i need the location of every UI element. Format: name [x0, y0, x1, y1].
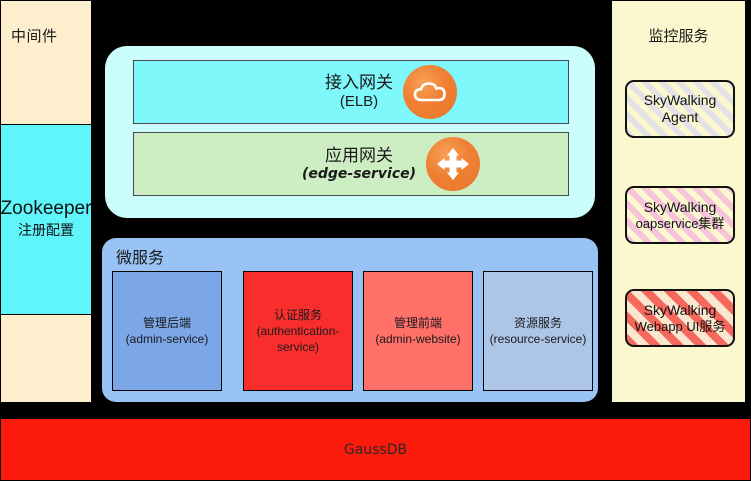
access-gateway-subtitle: (ELB)	[325, 93, 393, 112]
skywalking-oapservice-box[interactable]: SkyWalking oapservice集群	[625, 186, 735, 244]
skywalking-oapservice-line1: SkyWalking	[644, 199, 717, 216]
application-gateway-title: 应用网关	[302, 145, 416, 166]
microservice-resource-service[interactable]: 资源服务 (resource-service)	[483, 271, 593, 391]
move-arrows-icon	[426, 137, 480, 191]
microservice-authentication-service[interactable]: 认证服务 (authentication-service)	[243, 271, 353, 391]
microservice-admin-website[interactable]: 管理前端 (admin-website)	[363, 271, 473, 391]
zookeeper-subtitle: 注册配置	[18, 220, 74, 240]
microservice-name: 认证服务	[248, 307, 348, 323]
access-gateway-box[interactable]: 接入网关 (ELB)	[133, 60, 569, 124]
middleware-top-block: 中间件	[0, 0, 92, 125]
skywalking-agent-line1: SkyWalking	[644, 92, 717, 109]
microservice-id: (authentication-service)	[248, 323, 348, 355]
middleware-section-label: 中间件	[11, 25, 58, 46]
monitoring-title: 监控服务	[612, 25, 745, 46]
microservice-id: (resource-service)	[490, 331, 587, 347]
skywalking-webapp-ui-box[interactable]: SkyWalking Webapp UI服务	[625, 289, 735, 347]
skywalking-oapservice-line2: oapservice集群	[636, 216, 725, 232]
access-gateway-title: 接入网关	[325, 72, 393, 93]
microservices-group: 微服务 管理后端 (admin-service) 认证服务 (authentic…	[102, 238, 598, 402]
middleware-bottom-block	[0, 314, 92, 403]
architecture-diagram: 中间件 Zookeeper 注册配置 接入网关 (ELB)	[0, 0, 751, 481]
gateway-group: 接入网关 (ELB) 应用网关 (edge-service)	[105, 46, 595, 218]
skywalking-webapp-line1: SkyWalking	[644, 302, 717, 319]
skywalking-agent-box[interactable]: SkyWalking Agent	[625, 80, 735, 138]
zookeeper-block[interactable]: Zookeeper 注册配置	[0, 124, 92, 315]
middleware-column: 中间件 Zookeeper 注册配置	[0, 0, 92, 403]
application-gateway-subtitle: (edge-service)	[302, 166, 416, 184]
microservices-title: 微服务	[116, 244, 164, 268]
database-bar[interactable]: GaussDB	[0, 418, 751, 481]
database-label: GaussDB	[344, 442, 407, 458]
application-gateway-box[interactable]: 应用网关 (edge-service)	[133, 132, 569, 196]
microservice-admin-service[interactable]: 管理后端 (admin-service)	[112, 271, 222, 391]
microservice-id: (admin-service)	[126, 331, 209, 347]
skywalking-agent-line2: Agent	[662, 109, 699, 126]
microservice-name: 资源服务	[490, 315, 587, 331]
microservice-name: 管理后端	[126, 315, 209, 331]
skywalking-webapp-line2: Webapp UI服务	[635, 319, 726, 335]
cloud-icon	[403, 65, 457, 119]
microservice-name: 管理前端	[375, 315, 460, 331]
zookeeper-name: Zookeeper	[1, 199, 92, 219]
monitoring-column: 监控服务 SkyWalking Agent SkyWalking oapserv…	[611, 0, 746, 403]
microservice-id: (admin-website)	[375, 331, 460, 347]
